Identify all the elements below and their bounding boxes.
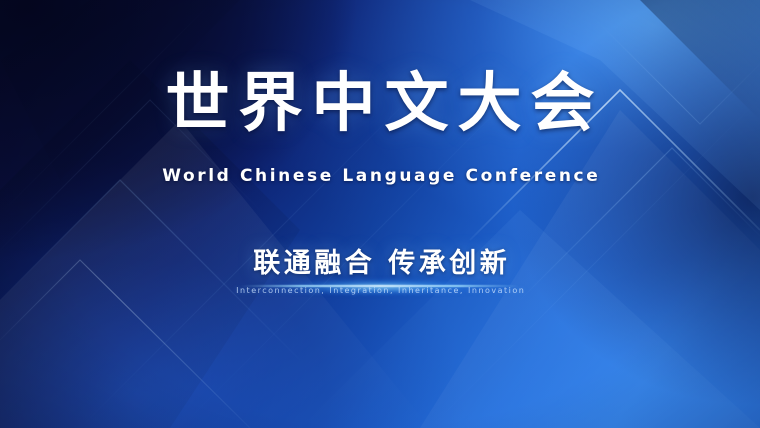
slogan-english: Interconnection, Integration, Inheritanc… (0, 286, 760, 295)
page-subtitle: World Chinese Language Conference (0, 166, 760, 186)
poster-content: 世界中文大会 World Chinese Language Conference… (0, 0, 760, 428)
slogan-chinese: 联通融合 传承创新 (0, 250, 760, 277)
conference-poster: 世界中文大会 World Chinese Language Conference… (0, 0, 760, 428)
page-title: 世界中文大会 (0, 72, 760, 136)
slogan-block: 联通融合 传承创新 Interconnection, Integration, … (0, 250, 760, 295)
